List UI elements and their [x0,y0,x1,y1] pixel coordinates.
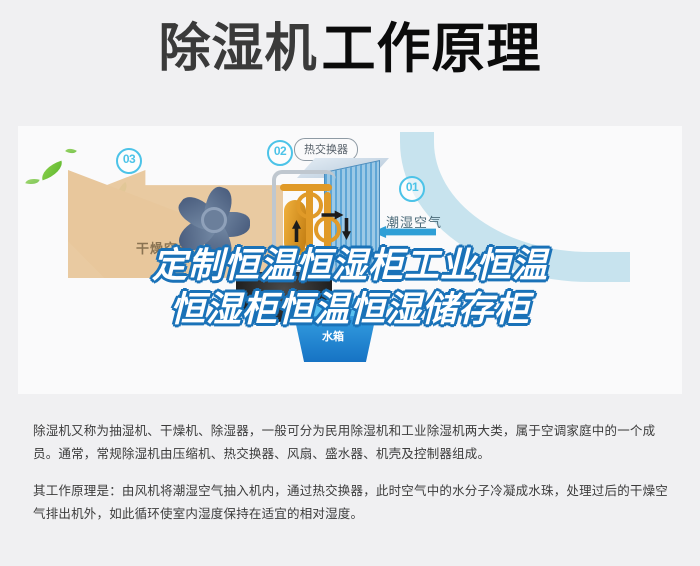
page-title: 除湿机工作原理 [0,22,700,76]
leaf-icon [25,176,39,186]
fan-icon [168,174,264,266]
humid-air-label: 潮湿空气 [386,212,442,231]
fan-hub [201,207,227,233]
heat-exchanger-assembly [266,156,384,280]
dehumidifier-diagram: 干燥空气 03 01 潮湿空气 02 热交换器 [18,126,682,394]
leaf-icon [39,161,66,181]
page-title-part1: 除湿机 [158,20,317,78]
water-tank-lid [286,298,392,316]
description-paragraph-1: 除湿机又称为抽湿机、干燥机、除湿器，一般可分为民用除湿机和工业除湿机两大类，属于… [33,420,669,466]
step-badge-01: 01 [399,176,425,202]
description-paragraph-2: 其工作原理是：由风机将潮湿空气抽入机内，通过热交换器，此时空气中的水分子冷凝成水… [33,480,669,526]
humid-air-band [400,132,630,282]
water-tank-label: 水箱 [322,328,344,344]
page-title-part2: 工作原理 [322,19,542,79]
step-badge-03: 03 [116,148,142,174]
coil-ring [296,192,323,219]
leaf-icon [65,146,77,156]
water-tank: 水箱 [286,298,392,362]
infographic-page: 除湿机工作原理 干燥空气 03 01 潮湿空气 02 热交换器 [0,0,700,566]
coil-ring [314,216,341,243]
